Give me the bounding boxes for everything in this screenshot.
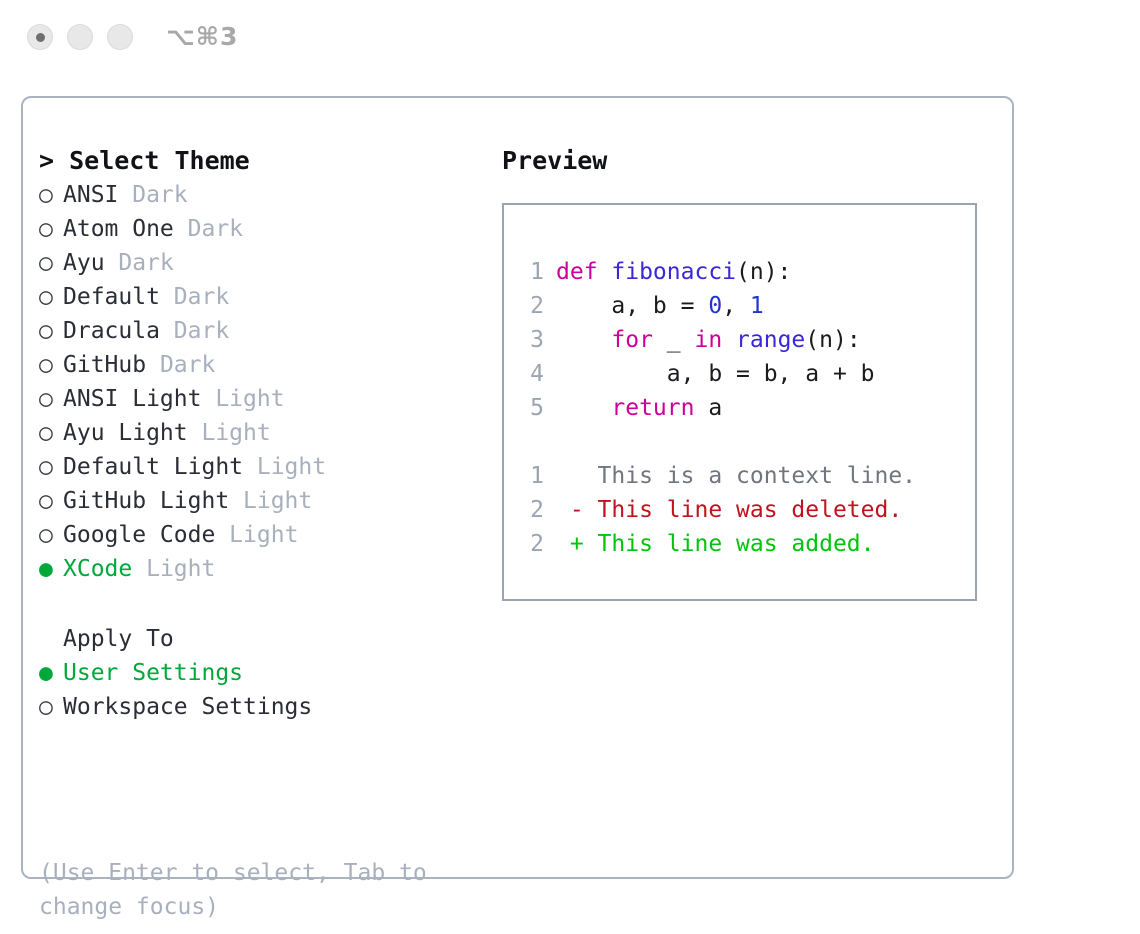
code-token-plain: a, b = [556, 293, 708, 319]
radio-unselected-icon: ○ [39, 314, 63, 348]
code-token-num: 0 [708, 293, 722, 319]
theme-item-9[interactable]: ○GitHub Light Light [39, 484, 489, 518]
code-token-fn: range [736, 327, 805, 353]
theme-item-5[interactable]: ○GitHub Dark [39, 348, 489, 382]
apply-to-list[interactable]: ●User Settings○Workspace Settings [39, 656, 489, 724]
theme-item-label: Atom One [63, 216, 174, 242]
code-token-plain: a [694, 395, 722, 421]
apply-to-item-1[interactable]: ○Workspace Settings [39, 690, 489, 724]
apply-to-header: Apply To [39, 622, 489, 656]
apply-to-indent [39, 622, 63, 656]
code-line-1: 1def fibonacci(n): [520, 255, 969, 289]
theme-item-label: GitHub [63, 352, 146, 378]
theme-item-tag: Dark [160, 284, 229, 310]
theme-item-4[interactable]: ○Dracula Dark [39, 314, 489, 348]
theme-item-tag: Dark [160, 318, 229, 344]
code-line-2: 2 a, b = 0, 1 [520, 289, 969, 323]
window-dot-3[interactable] [107, 24, 133, 50]
theme-item-label: Ayu Light [63, 420, 188, 446]
title-bar: ⌥⌘3 [0, 0, 1140, 80]
window-dot-active[interactable] [27, 24, 53, 50]
theme-item-11[interactable]: ●XCode Light [39, 552, 489, 586]
theme-item-label: Google Code [63, 522, 215, 548]
code-token-plain [556, 327, 611, 353]
theme-item-tag: Dark [118, 182, 187, 208]
theme-item-2[interactable]: ○Ayu Dark [39, 246, 489, 280]
radio-unselected-icon: ○ [39, 246, 63, 280]
theme-selector-column: > Select Theme ○ANSI Dark○Atom One Dark○… [39, 144, 489, 724]
theme-item-tag: Dark [105, 250, 174, 276]
code-line-number: 5 [520, 391, 544, 425]
code-token-plain [722, 327, 736, 353]
code-line-number: 2 [520, 289, 544, 323]
apply-to-item-label: User Settings [63, 660, 243, 686]
theme-item-tag: Light [188, 420, 271, 446]
window-controls [27, 24, 133, 50]
code-token-kw: in [694, 327, 722, 353]
diff-line-text: + This line was added. [556, 531, 875, 557]
apply-to-item-label: Workspace Settings [63, 694, 312, 720]
theme-item-tag: Light [243, 454, 326, 480]
code-line-number: 1 [520, 255, 544, 289]
theme-item-label: Default [63, 284, 160, 310]
theme-item-label: GitHub Light [63, 488, 229, 514]
diff-line-0: 1 This is a context line. [520, 459, 969, 493]
radio-unselected-icon: ○ [39, 416, 63, 450]
radio-selected-icon: ● [39, 552, 63, 586]
diff-line-text: This is a context line. [556, 463, 916, 489]
keyboard-shortcut-label: ⌥⌘3 [166, 22, 238, 51]
radio-unselected-icon: ○ [39, 450, 63, 484]
diff-line-text: - This line was deleted. [556, 497, 902, 523]
code-line-number: 4 [520, 357, 544, 391]
radio-unselected-icon: ○ [39, 178, 63, 212]
code-token-plain: _ [653, 327, 695, 353]
theme-item-6[interactable]: ○ANSI Light Light [39, 382, 489, 416]
radio-unselected-icon: ○ [39, 212, 63, 246]
code-token-plain [556, 395, 611, 421]
radio-unselected-icon: ○ [39, 484, 63, 518]
theme-item-tag: Light [229, 488, 312, 514]
radio-unselected-icon: ○ [39, 518, 63, 552]
main-panel: > Select Theme ○ANSI Dark○Atom One Dark○… [21, 96, 1014, 879]
app-window: ⌥⌘3 > Select Theme ○ANSI Dark○Atom One D… [0, 0, 1140, 934]
diff-line-number: 1 [520, 459, 544, 493]
theme-item-label: Ayu [63, 250, 105, 276]
theme-item-10[interactable]: ○Google Code Light [39, 518, 489, 552]
radio-selected-icon: ● [39, 656, 63, 690]
code-token-plain: a, b = b, a + b [556, 361, 875, 387]
theme-item-label: ANSI [63, 182, 118, 208]
window-dot-2[interactable] [67, 24, 93, 50]
theme-list[interactable]: ○ANSI Dark○Atom One Dark○Ayu Dark○Defaul… [39, 178, 489, 586]
theme-item-label: Default Light [63, 454, 243, 480]
code-line-4: 4 a, b = b, a + b [520, 357, 969, 391]
theme-item-tag: Dark [146, 352, 215, 378]
apply-to-item-0[interactable]: ●User Settings [39, 656, 489, 690]
code-line-number: 3 [520, 323, 544, 357]
theme-item-tag: Light [215, 522, 298, 548]
theme-item-tag: Dark [174, 216, 243, 242]
diff-line-number: 2 [520, 527, 544, 561]
code-token-plain: (n): [805, 327, 860, 353]
theme-item-8[interactable]: ○Default Light Light [39, 450, 489, 484]
preview-column: Preview 1def fibonacci(n):2 a, b = 0, 13… [502, 144, 982, 601]
theme-item-label: XCode [63, 556, 132, 582]
radio-unselected-icon: ○ [39, 382, 63, 416]
theme-item-tag: Light [201, 386, 284, 412]
select-theme-header: > Select Theme [39, 144, 489, 178]
theme-item-label: ANSI Light [63, 386, 201, 412]
code-line-5: 5 return a [520, 391, 969, 425]
diff-line-number: 2 [520, 493, 544, 527]
theme-item-7[interactable]: ○Ayu Light Light [39, 416, 489, 450]
diff-line-1: 2 - This line was deleted. [520, 493, 969, 527]
code-token-fn: fibonacci [611, 259, 736, 285]
hint-text: (Use Enter to select, Tab to change focu… [39, 856, 459, 924]
code-token-num: 1 [750, 293, 764, 319]
theme-item-0[interactable]: ○ANSI Dark [39, 178, 489, 212]
preview-header: Preview [502, 144, 982, 178]
code-token-kw: return [611, 395, 694, 421]
preview-box: 1def fibonacci(n):2 a, b = 0, 13 for _ i… [502, 203, 977, 601]
radio-unselected-icon: ○ [39, 280, 63, 314]
spacer [39, 586, 489, 622]
code-token-kw: for [611, 327, 653, 353]
theme-item-1[interactable]: ○Atom One Dark [39, 212, 489, 246]
theme-item-tag: Light [132, 556, 215, 582]
code-diff-spacer [520, 425, 969, 459]
code-line-3: 3 for _ in range(n): [520, 323, 969, 357]
diff-line-2: 2 + This line was added. [520, 527, 969, 561]
code-token-plain: , [722, 293, 750, 319]
radio-unselected-icon: ○ [39, 348, 63, 382]
code-preview: 1def fibonacci(n):2 a, b = 0, 13 for _ i… [520, 255, 969, 561]
theme-item-label: Dracula [63, 318, 160, 344]
radio-unselected-icon: ○ [39, 690, 63, 724]
theme-item-3[interactable]: ○Default Dark [39, 280, 489, 314]
code-token-kw: def [556, 259, 611, 285]
code-token-plain: (n): [736, 259, 791, 285]
